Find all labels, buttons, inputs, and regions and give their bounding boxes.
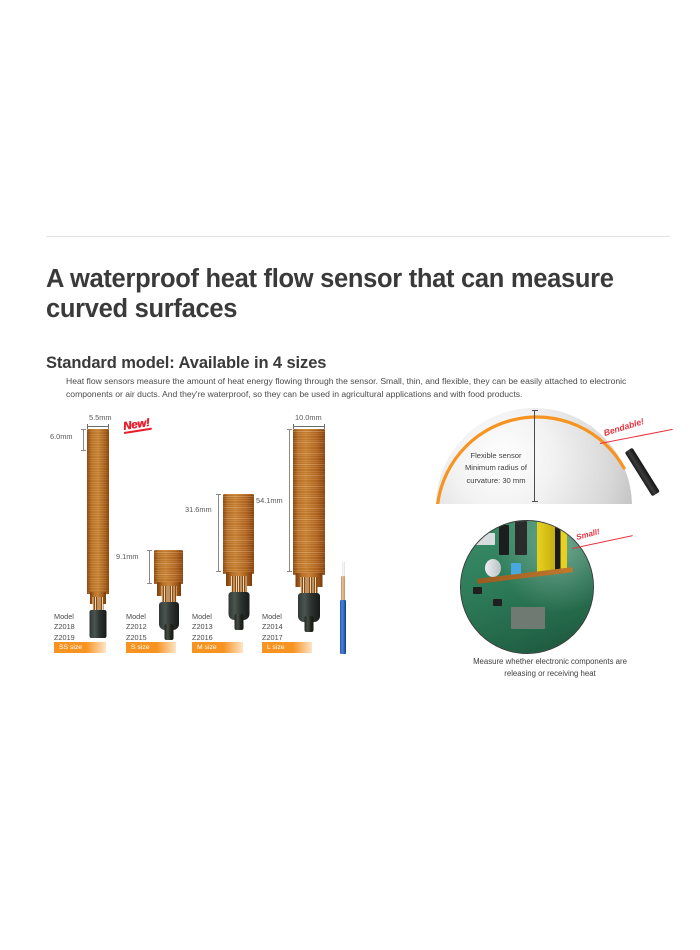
size-badge-m: M size [192,642,243,653]
pcb-component-black-1 [499,525,509,555]
s-model-label: Model [126,612,147,622]
m-sensor-cable [234,614,243,630]
body-text: Heat flow sensors measure the amount of … [66,375,658,401]
m-model-number-1: Z2013 [192,622,213,632]
header-divider [46,236,670,237]
ss-sensor-film [87,429,109,594]
m-sensor-film [223,494,254,574]
pcb-capacitor-1 [469,533,495,545]
l-sensor-cable [305,616,314,632]
l-model-number-1: Z2014 [262,622,283,632]
page-root: A waterproof heat flow sensor that can m… [0,0,700,950]
application-caption-line-1: Measure whether electronic components ar… [416,656,684,668]
flexible-sensor-caption: Flexible sensor Minimum radius of curvat… [432,450,560,487]
ss-width-dimension-label: 5.5mm [89,413,112,422]
pcb-electrolytic-cap [485,559,501,577]
application-illustrations: Flexible sensor Minimum radius of curvat… [424,404,676,689]
sensor-ss-body [87,429,109,619]
m-height-dimension-label: 31.6mm [185,505,212,514]
l-sensor-film [293,429,325,575]
size-badge-l: L size [262,642,312,653]
pcb-ic-chip [511,607,545,629]
pcb-yellow-transformer [537,520,567,573]
ss-sensor-boot [90,610,107,638]
application-caption: Measure whether electronic components ar… [416,656,684,681]
pcb-component-black-2 [515,521,527,555]
ss-model-label: Model [54,612,75,622]
cable-copper-strands [341,576,345,602]
s-height-dimension-label: 9.1mm [116,552,139,561]
sensor-s-body [154,550,183,620]
pcb-board-background [460,520,594,654]
sensor-ss-caption: Model Z2018 Z2019 [54,612,75,643]
s-height-dimension-line [149,550,150,584]
sensor-l-caption: Model Z2014 Z2017 [262,612,283,643]
sensor-s-caption: Model Z2012 Z2015 [126,612,147,643]
m-height-dimension-line [218,494,219,572]
ss-width-dimension-line [87,426,109,427]
pcb-photo-inset [460,520,594,654]
pcb-smd-1 [473,587,482,594]
s-model-number-1: Z2012 [126,622,147,632]
page-title: A waterproof heat flow sensor that can m… [46,265,656,324]
new-badge: New! [122,417,150,434]
l-model-label: Model [262,612,283,622]
l-width-dimension-line [293,426,325,427]
flexible-caption-line-2: Minimum radius of [432,462,560,474]
section-heading: Standard model: Available in 4 sizes [46,354,326,373]
ss-height-dimension-line [83,429,84,451]
flexible-caption-line-3: curvature: 30 mm [432,475,560,487]
flexible-caption-line-1: Flexible sensor [432,450,560,462]
sensor-m-body [223,494,254,620]
l-width-dimension-label: 10.0mm [295,413,322,422]
l-height-dimension-label: 54.1mm [256,496,283,505]
l-height-dimension-line [289,429,290,572]
s-sensor-cable [164,624,173,640]
ss-model-number-1: Z2018 [54,622,75,632]
sensor-l-body [293,429,325,619]
sensor-m-caption: Model Z2013 Z2016 [192,612,213,643]
pcb-smd-2 [493,599,502,606]
sensor-lineup-illustration: 5.5mm 6.0mm New! Model Z2018 Z2019 SS si… [46,404,421,669]
size-badge-ss: SS size [54,642,106,653]
size-badge-s: S size [126,642,176,653]
cable-blue-jacket [340,600,346,654]
ss-height-dimension-label: 6.0mm [50,432,73,441]
new-badge-label: New! [122,417,150,433]
s-sensor-film [154,550,183,584]
application-caption-line-2: releasing or receiving heat [416,668,684,680]
m-model-label: Model [192,612,213,622]
